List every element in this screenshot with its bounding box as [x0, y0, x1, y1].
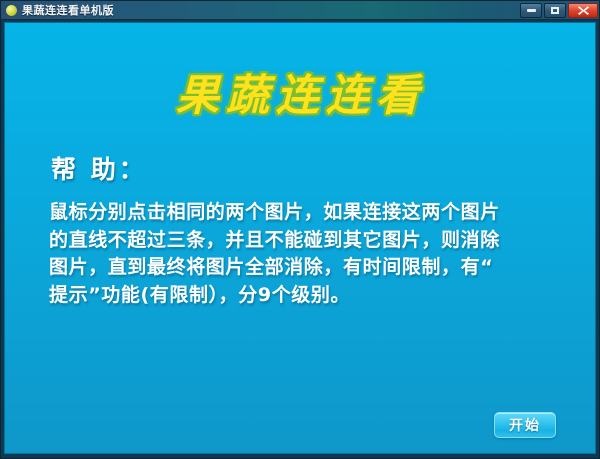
minimize-button[interactable]	[520, 3, 542, 18]
close-button[interactable]	[568, 3, 598, 18]
game-client-area: 果蔬连连看 帮 助： 鼠标分别点击相同的两个图片，如果连接这两个图片 的直线不超…	[4, 22, 596, 454]
start-button[interactable]: 开始	[494, 412, 556, 438]
help-body: 鼠标分别点击相同的两个图片，如果连接这两个图片 的直线不超过三条，并且不能碰到其…	[49, 199, 579, 309]
game-title: 果蔬连连看	[5, 61, 596, 123]
maximize-button[interactable]	[544, 3, 566, 18]
minimize-icon	[527, 9, 536, 12]
help-line: 提示”功能(有限制），分9个级别。	[49, 282, 579, 310]
help-line: 的直线不超过三条，并且不能碰到其它图片，则消除	[49, 227, 579, 255]
help-line: 鼠标分别点击相同的两个图片，如果连接这两个图片	[49, 199, 579, 227]
app-ball-icon	[6, 5, 17, 16]
application-window: 果蔬连连看单机版 果蔬连连看 帮 助： 鼠标分别点击相同的两个图片，如果连接这两…	[0, 0, 600, 459]
window-title: 果蔬连连看单机版	[22, 2, 114, 18]
help-heading: 帮 助：	[51, 150, 147, 186]
start-button-label: 开始	[509, 415, 541, 435]
title-bar-left: 果蔬连连看单机版	[1, 2, 520, 18]
window-controls	[520, 3, 600, 18]
maximize-icon	[551, 7, 559, 14]
help-line: 图片，直到最终将图片全部消除，有时间限制，有“	[49, 254, 579, 282]
title-bar[interactable]: 果蔬连连看单机版	[1, 1, 600, 20]
close-icon	[577, 5, 590, 16]
